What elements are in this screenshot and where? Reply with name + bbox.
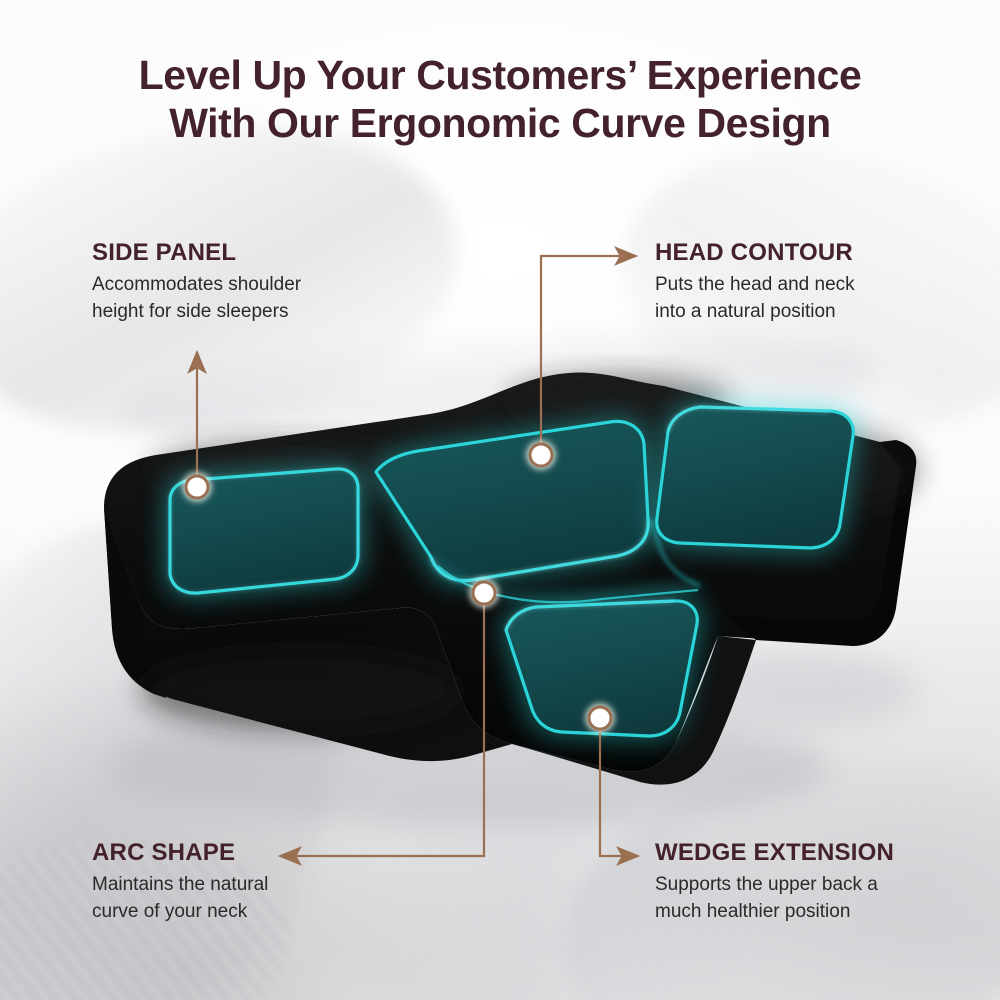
callout-title-wedge-extension: WEDGE EXTENSION [655,840,985,866]
callout-desc-head-contour: Puts the head and neck into a natural po… [655,272,985,326]
callout-title-side-panel: SIDE PANEL [92,240,422,266]
callout-desc-arc-shape: Maintains the natural curve of your neck [92,872,422,926]
callout-head-contour: HEAD CONTOUR Puts the head and neck into… [655,240,985,326]
callout-arc-shape: ARC SHAPE Maintains the natural curve of… [92,840,422,926]
callout-desc-line: much healthier position [655,901,850,922]
callout-desc-line: Maintains the natural [92,874,268,895]
marker-dot-side-panel [185,475,210,500]
callout-desc-line: Accommodates shoulder [92,274,301,295]
callout-desc-line: curve of your neck [92,901,247,922]
callout-desc-wedge-extension: Supports the upper back a much healthier… [655,872,985,926]
callout-desc-line: Puts the head and neck [655,274,855,295]
marker-dot-head-contour [529,443,554,468]
callout-desc-line: Supports the upper back a [655,874,878,895]
marker-dot-wedge-extension [588,706,613,731]
infographic-canvas: Level Up Your Customers’ Experience With… [0,0,1000,1000]
callout-wedge-extension: WEDGE EXTENSION Supports the upper back … [655,840,985,926]
callout-title-head-contour: HEAD CONTOUR [655,240,985,266]
marker-dot-arc-shape [472,581,497,606]
callout-desc-side-panel: Accommodates shoulder height for side sl… [92,272,422,326]
callout-title-arc-shape: ARC SHAPE [92,840,422,866]
callout-side-panel: SIDE PANEL Accommodates shoulder height … [92,240,422,326]
callout-desc-line: into a natural position [655,301,836,322]
callout-desc-line: height for side sleepers [92,301,288,322]
